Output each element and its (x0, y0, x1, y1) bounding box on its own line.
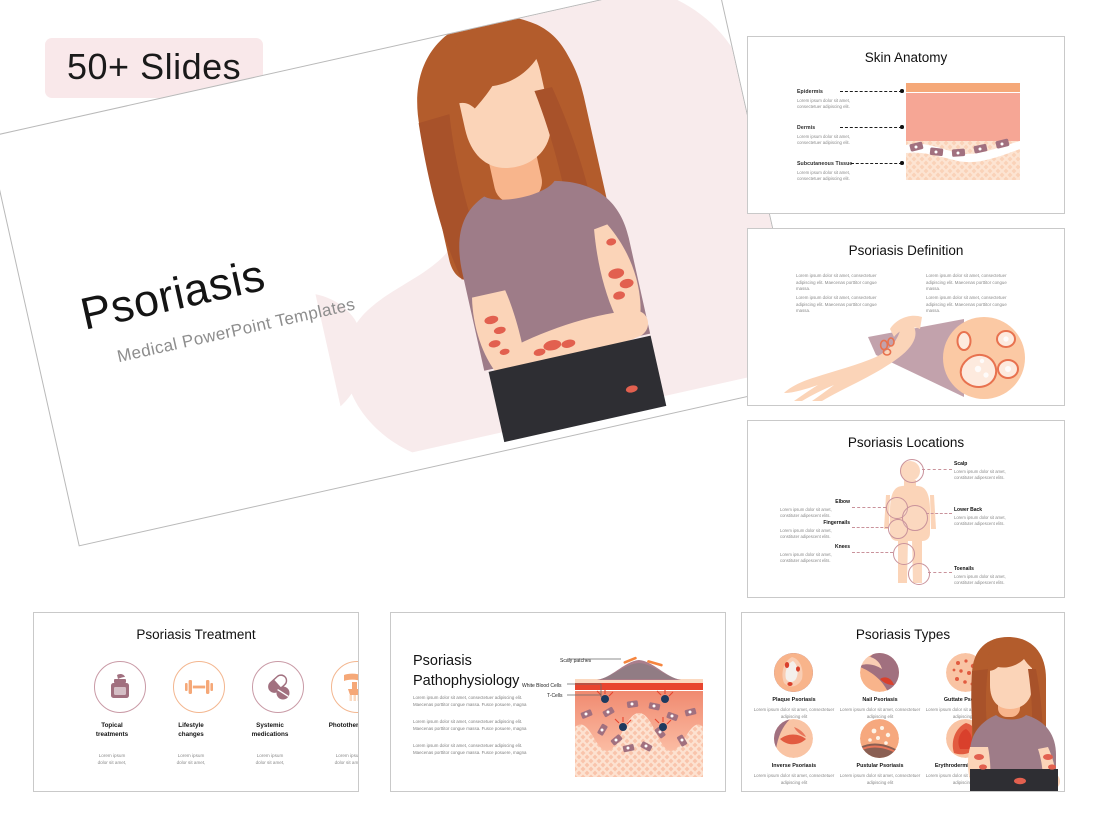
slide-skin-anatomy[interactable]: Skin Anatomy (747, 36, 1065, 214)
location-ring-scalp (900, 459, 924, 483)
location-ring-fingernails (888, 519, 908, 539)
type-name-nail-psoriasis: Nail Psoriasis (839, 697, 921, 703)
type-body-pustular-psoriasis: Lorem ipsum dolor sit amet, consectetuer… (839, 773, 921, 786)
location-label-lower-back: Lower Back (954, 507, 982, 513)
slide-psoriasis-treatment[interactable]: Psoriasis Treatment Topicaltreatments Lo… (33, 612, 359, 792)
treatment-name-phototherapy: Phototherapy (307, 721, 359, 730)
location-body-knees: Lorem ipsum dolor sit amet, constituter … (780, 552, 850, 564)
treatment-icon-phototherapy[interactable] (331, 661, 359, 713)
title-illustration (260, 0, 807, 505)
slide-psoriasis-pathophysiology[interactable]: PsoriasisPathophysiology Lorem ipsum dol… (390, 612, 726, 792)
pathophysiology-paragraph-2: Lorem ipsum dolor sit amet, consectetuer… (413, 719, 541, 733)
location-ring-knees (893, 543, 915, 565)
anatomy-leader-epidermis (840, 91, 902, 92)
treatment-body-systemic-medications: Lorem ipsumdolor sit amet, (228, 753, 312, 767)
treatment-icon-topical-treatments[interactable] (94, 661, 146, 713)
hero-slide[interactable]: Psoriasis Medical PowerPoint Templates (0, 0, 808, 546)
phototherapy-lamp-icon (341, 671, 359, 703)
location-label-elbow: Elbow (780, 499, 850, 505)
location-label-scalp: Scalp (954, 461, 967, 467)
treatment-name-topical-treatments: Topicaltreatments (70, 721, 154, 739)
slide-psoriasis-locations[interactable]: Psoriasis Locations Scalp Lorem ipsum do… (747, 420, 1065, 598)
treatment-name-systemic-medications: Systemicmedications (228, 721, 312, 739)
slide-psoriasis-types[interactable]: Psoriasis Types Plaque Psoriasis Lorem i… (741, 612, 1065, 792)
treatment-icon-systemic-medications[interactable] (252, 661, 304, 713)
slide-title-skin-anatomy: Skin Anatomy (748, 50, 1064, 65)
treatment-body-lifestyle-changes: Lorem ipsumdolor sit amet, (149, 753, 233, 767)
location-body-elbow: Lorem ipsum dolor sit amet, constituter … (780, 507, 850, 519)
type-image-inverse-psoriasis[interactable] (774, 719, 813, 758)
treatment-body-topical-treatments: Lorem ipsumdolor sit amet, (70, 753, 154, 767)
pathophysiology-paragraph-1: Lorem ipsum dolor sit amet, consectetuer… (413, 695, 541, 709)
type-body-inverse-psoriasis: Lorem ipsum dolor sit amet, consectetuer… (753, 773, 835, 786)
pills-icon (263, 672, 293, 702)
type-name-pustular-psoriasis: Pustular Psoriasis (839, 763, 921, 769)
definition-paragraph-2: Lorem ipsum dolor sit amet, consectetuer… (926, 273, 1021, 293)
pathophysiology-paragraph-3: Lorem ipsum dolor sit amet, consectetuer… (413, 743, 541, 757)
type-name-inverse-psoriasis: Inverse Psoriasis (753, 763, 835, 769)
skin-layers-diagram (906, 83, 1020, 180)
slide-title-psoriasis-pathophysiology: PsoriasisPathophysiology (413, 651, 519, 691)
anatomy-dot-dermis (900, 125, 904, 129)
location-body-scalp: Lorem ipsum dolor sit amet, constituter … (954, 469, 1024, 481)
location-leader-fingernails (852, 527, 888, 528)
location-leader-toenails (928, 572, 952, 573)
location-label-fingernails: Fingernails (780, 520, 850, 526)
location-body-fingernails: Lorem ipsum dolor sit amet, constituter … (780, 528, 850, 540)
anatomy-leader-subcutaneous-tissue (851, 163, 902, 164)
anatomy-label-epidermis: Epidermis (797, 89, 823, 95)
slide-psoriasis-definition[interactable]: Psoriasis Definition Lorem ipsum dolor s… (747, 228, 1065, 406)
cream-jar-icon (105, 672, 135, 702)
slide-title-psoriasis-locations: Psoriasis Locations (748, 435, 1064, 450)
slide-title-psoriasis-definition: Psoriasis Definition (748, 243, 1064, 258)
arm-magnifier-illustration (772, 311, 1052, 401)
anatomy-dot-epidermis (900, 89, 904, 93)
location-label-knees: Knees (780, 544, 850, 550)
anatomy-label-dermis: Dermis (797, 125, 815, 131)
woman-illustration-types (948, 631, 1065, 791)
pathophysiology-callout-t-cells: T-Cells (547, 693, 563, 699)
anatomy-dot-subcutaneous-tissue (900, 161, 904, 165)
anatomy-body-dermis: Lorem ipsum dolor sit amet, consectetuer… (797, 134, 865, 146)
anatomy-body-subcutaneous-tissue: Lorem ipsum dolor sit amet, consectetuer… (797, 170, 865, 182)
location-ring-toenails (908, 563, 930, 585)
hero-slide-wrapper: Psoriasis Medical PowerPoint Templates (24, 50, 784, 570)
anatomy-leader-dermis (840, 127, 902, 128)
anatomy-label-subcutaneous-tissue: Subcutaneous Tissue (797, 161, 852, 167)
location-leader-scalp (922, 469, 952, 470)
type-image-plaque-psoriasis[interactable] (774, 653, 813, 692)
location-leader-elbow (852, 507, 886, 508)
slide-title-psoriasis-treatment: Psoriasis Treatment (34, 627, 358, 642)
anatomy-body-epidermis: Lorem ipsum dolor sit amet, consectetuer… (797, 98, 865, 110)
definition-paragraph-1: Lorem ipsum dolor sit amet, consectetuer… (796, 273, 891, 293)
location-leader-knees (852, 552, 893, 553)
type-name-plaque-psoriasis: Plaque Psoriasis (753, 697, 835, 703)
presentation-preview-board: 50+ Slides (0, 0, 1101, 827)
location-body-lower-back: Lorem ipsum dolor sit amet, constituter … (954, 515, 1024, 527)
type-image-pustular-psoriasis[interactable] (860, 719, 899, 758)
treatment-name-lifestyle-changes: Lifestylechanges (149, 721, 233, 739)
location-label-toenails: Toenails (954, 566, 974, 572)
treatment-icon-lifestyle-changes[interactable] (173, 661, 225, 713)
dumbbell-icon (184, 672, 214, 702)
treatment-body-phototherapy: Lorem ipsumdolor sit amet, (307, 753, 359, 767)
location-body-toenails: Lorem ipsum dolor sit amet, constituter … (954, 574, 1024, 586)
type-image-nail-psoriasis[interactable] (860, 653, 899, 692)
pathophysiology-diagram (567, 653, 707, 778)
pathophysiology-callout-white-blood-cells: White Blood Cells (522, 683, 561, 689)
location-leader-lower-back (926, 513, 952, 514)
